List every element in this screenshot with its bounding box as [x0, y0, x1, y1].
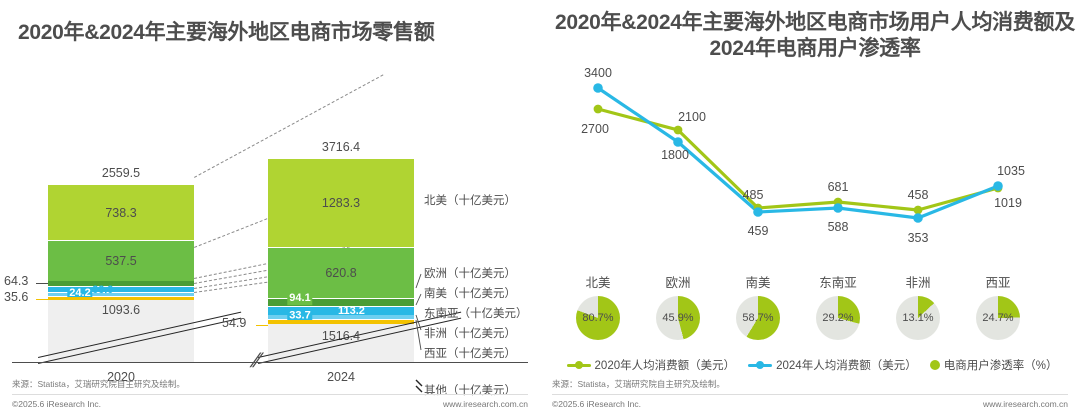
- axis-tick-2024: 2024: [268, 370, 414, 384]
- side-dash-2020-west-asia: [36, 299, 48, 300]
- label-2024-south-america: 459: [748, 224, 769, 238]
- legend-item-2024[interactable]: 2024年人均消费额（美元）: [748, 357, 917, 373]
- x-label-southeast-asia: 东南亚: [819, 272, 857, 291]
- legend-label-2024: 2024年人均消费额（美元）: [776, 357, 917, 373]
- x-label-north-america: 北美: [585, 272, 610, 291]
- segment-2020-africa: 24.2: [48, 293, 194, 296]
- label-2020-north-america: 2700: [581, 122, 609, 136]
- segment-2020-north-america: 738.3: [48, 185, 194, 240]
- category-label-southeast-asia: 东南亚（十亿美元）: [424, 305, 528, 321]
- category-label-south-america: 南美（十亿美元）: [424, 285, 516, 301]
- label-2020-south-america: 485: [743, 188, 764, 202]
- x-label-west-asia: 西亚: [985, 272, 1010, 291]
- segment-2020-north-america-value: 738.3: [48, 206, 194, 220]
- pie-pct-southeast-asia: 29.2%: [822, 312, 853, 324]
- category-label-africa: 非洲（十亿美元）: [424, 325, 516, 341]
- pie-north-america: 80.7%: [576, 296, 620, 340]
- x-label-europe: 欧洲: [665, 272, 690, 291]
- left-chart-title: 2020年&2024年主要海外地区电商市场零售额: [18, 20, 530, 46]
- legend-line-2024-icon: [748, 364, 772, 367]
- segment-2020-other-value: 1093.6: [48, 303, 194, 317]
- point-2020-africa: [914, 206, 923, 215]
- legend-item-penetration[interactable]: 电商用户渗透率（%）: [930, 357, 1058, 373]
- x-label-africa: 非洲: [905, 272, 930, 291]
- segment-2024-other-value: 1516.4: [268, 329, 414, 343]
- bar-2020-total: 2559.5: [48, 166, 194, 180]
- left-website: www.iresearch.com.cn: [443, 399, 528, 409]
- legend-item-2020[interactable]: 2020年人均消费额（美元）: [567, 357, 736, 373]
- point-2024-west-asia: [993, 181, 1003, 191]
- category-label-west-asia: 西亚（十亿美元）: [424, 345, 516, 361]
- label-2024-southeast-asia: 588: [828, 220, 849, 234]
- line-2020-series: [598, 109, 998, 210]
- right-source-note: 来源：Statista，艾瑞研究院自主研究及绘制。: [552, 378, 725, 390]
- label-2024-africa: 353: [908, 231, 929, 245]
- point-2024-north-america: [593, 83, 603, 93]
- category-label-other: 其他（十亿美元）: [424, 382, 516, 398]
- pie-pct-north-america: 80.7%: [582, 312, 613, 324]
- pie-wrap-south-america: 58.7%: [736, 296, 780, 340]
- line-2024-series: [598, 88, 998, 218]
- bar-2020: 2559.5 738.3 537.5 66.0 24.2: [48, 185, 194, 362]
- pie-wrap-africa: 13.1%: [896, 296, 940, 340]
- segment-2024-north-america: 1283.3: [268, 159, 414, 247]
- side-dash-2024-west-asia: [256, 325, 268, 326]
- segment-2024-africa: 33.7: [268, 315, 414, 319]
- pie-south-america: 58.7%: [736, 296, 780, 340]
- point-2024-southeast-asia: [833, 203, 843, 213]
- left-source-note: 来源：Statista，艾瑞研究院自主研究及绘制。: [12, 378, 185, 390]
- right-website: www.iresearch.com.cn: [983, 399, 1068, 409]
- pie-europe: 45.9%: [656, 296, 700, 340]
- segment-2020-europe: 537.5: [48, 241, 194, 281]
- line-and-pie-chart: 3400 1800 459 588 353 1035 2700 2100 485…: [540, 68, 1080, 368]
- right-chart-legend: 2020年人均消费额（美元） 2024年人均消费额（美元） 电商用户渗透率（%）: [548, 357, 1076, 373]
- pie-wrap-north-america: 80.7%: [576, 296, 620, 340]
- segment-2024-north-america-value: 1283.3: [268, 196, 414, 210]
- pie-wrap-west-asia: 24.7%: [976, 296, 1020, 340]
- pie-pct-africa: 13.1%: [902, 312, 933, 324]
- right-copyright: ©2025.6 iResearch Inc.: [552, 399, 641, 409]
- label-2024-west-asia: 1035: [997, 164, 1025, 178]
- pie-africa: 13.1%: [896, 296, 940, 340]
- category-label-europe: 欧洲（十亿美元）: [424, 265, 516, 281]
- right-footer-divider: [552, 394, 1068, 395]
- label-2024-north-america: 3400: [584, 66, 612, 80]
- pie-wrap-southeast-asia: 29.2%: [816, 296, 860, 340]
- point-2020-europe: [674, 126, 683, 135]
- label-2020-europe: 2100: [678, 110, 706, 124]
- segment-2020-europe-value: 537.5: [48, 254, 194, 268]
- x-axis-line: [12, 362, 528, 363]
- side-value-2020-west-asia: 35.6: [4, 290, 28, 304]
- left-copyright: ©2025.6 iResearch Inc.: [12, 399, 101, 409]
- segment-2024-europe: 620.8: [268, 248, 414, 298]
- pie-southeast-asia: 29.2%: [816, 296, 860, 340]
- legend-pie-dot-icon: [930, 360, 940, 370]
- right-chart-title: 2020年&2024年主要海外地区电商市场用户人均消费额及2024年电商用户渗透…: [550, 10, 1080, 61]
- bar-2024-total: 3716.4: [268, 140, 414, 154]
- label-2020-southeast-asia: 681: [828, 180, 849, 194]
- label-2024-europe: 1800: [661, 148, 689, 162]
- legend-line-2020-icon: [567, 364, 591, 367]
- point-2024-europe: [673, 137, 683, 147]
- infographic-page: 2020年&2024年主要海外地区电商市场零售额 2559.5 738.3 53…: [0, 0, 1080, 415]
- point-2020-north-america: [594, 105, 603, 114]
- segment-2020-other: 1093.6: [48, 300, 194, 362]
- point-2024-south-america: [753, 207, 763, 217]
- right-chart-panel: 2020年&2024年主要海外地区电商市场用户人均消费额及2024年电商用户渗透…: [540, 0, 1080, 415]
- pie-west-asia: 24.7%: [976, 296, 1020, 340]
- side-dash-2020-south-america: [36, 283, 48, 284]
- pie-pct-europe: 45.9%: [662, 312, 693, 324]
- pie-pct-south-america: 58.7%: [742, 312, 773, 324]
- bar-2024: 3716.4 1283.3 620.8 94.1 113.2: [268, 159, 414, 362]
- side-value-2020-south-america: 64.3: [4, 274, 28, 288]
- side-value-2024-west-asia: 54.9: [222, 316, 246, 330]
- segment-2024-europe-value: 620.8: [268, 266, 414, 280]
- legend-label-2020: 2020年人均消费额（美元）: [595, 357, 736, 373]
- left-chart-panel: 2020年&2024年主要海外地区电商市场零售额 2559.5 738.3 53…: [0, 0, 540, 415]
- legend-label-penetration: 电商用户渗透率（%）: [944, 357, 1058, 373]
- stacked-bar-chart: 2559.5 738.3 537.5 66.0 24.2: [0, 62, 540, 362]
- label-2020-west-asia: 1019: [994, 196, 1022, 210]
- category-label-north-america: 北美（十亿美元）: [424, 192, 516, 208]
- pie-pct-west-asia: 24.7%: [982, 312, 1013, 324]
- left-footer-divider: [12, 394, 528, 395]
- label-2020-africa: 458: [908, 188, 929, 202]
- segment-2020-south-america: [48, 281, 194, 286]
- x-label-south-america: 南美: [745, 272, 770, 291]
- segment-2024-south-america-value: 94.1: [287, 293, 312, 305]
- pie-wrap-europe: 45.9%: [656, 296, 700, 340]
- point-2024-africa: [913, 213, 923, 223]
